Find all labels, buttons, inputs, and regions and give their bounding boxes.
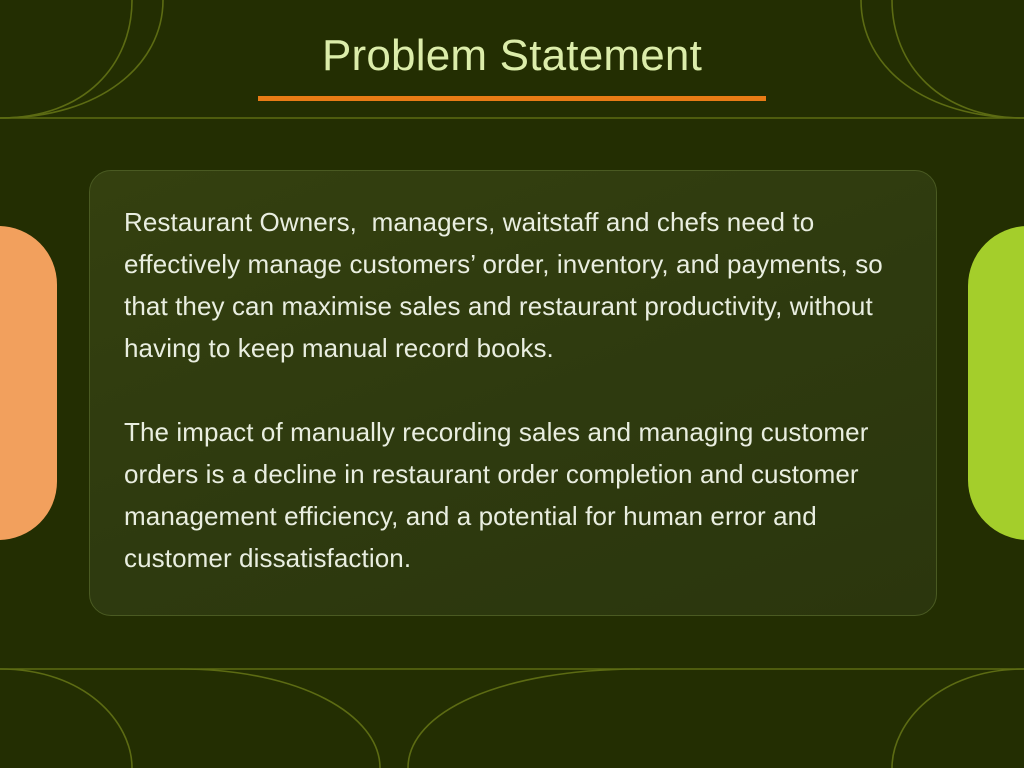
decor-arc-bottom-right-outer <box>892 669 1024 768</box>
page-title: Problem Statement <box>0 28 1024 84</box>
paragraph: The impact of manually recording sales a… <box>124 411 902 579</box>
decor-arc-bottom-center-left <box>180 669 380 768</box>
title-underline <box>258 96 766 101</box>
paragraph: Restaurant Owners, managers, waitstaff a… <box>124 201 902 369</box>
decor-pill-left-orange <box>0 226 57 540</box>
title-block: Problem Statement <box>0 28 1024 101</box>
decor-arc-bottom-left-outer <box>0 669 132 768</box>
decor-arc-bottom-center-right <box>408 669 640 768</box>
decor-pill-right-green <box>968 226 1024 540</box>
body-text: Restaurant Owners, managers, waitstaff a… <box>124 201 902 579</box>
content-card: Restaurant Owners, managers, waitstaff a… <box>89 170 937 616</box>
